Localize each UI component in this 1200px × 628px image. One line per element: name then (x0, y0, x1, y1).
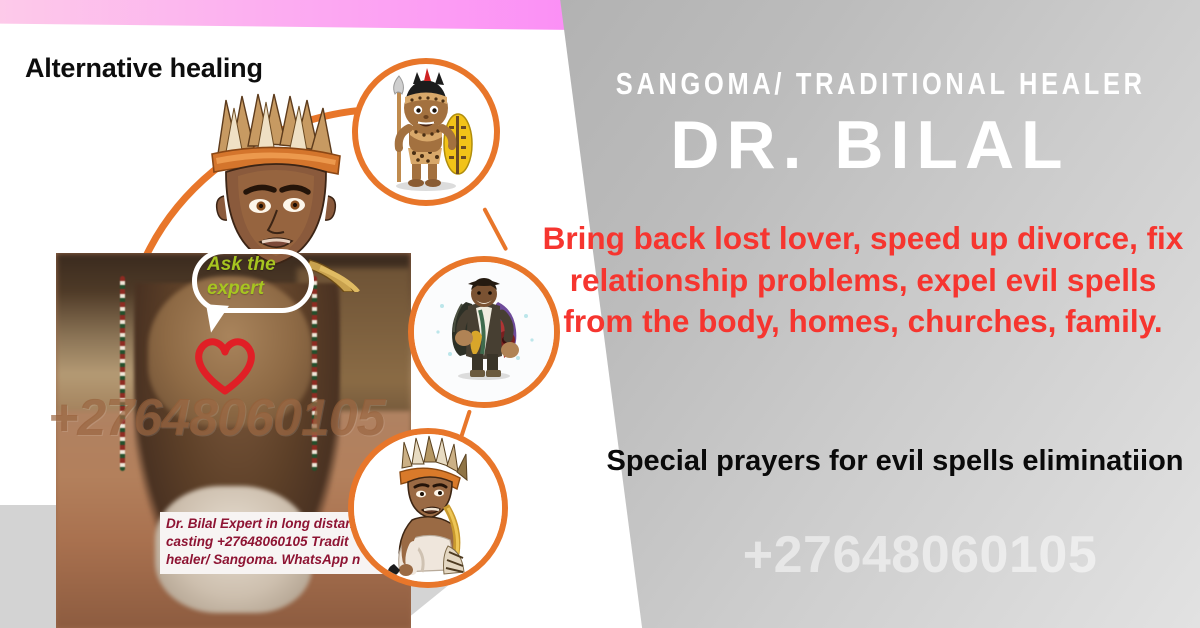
healer-coat-illustration (414, 262, 554, 402)
badge-crouching-warrior (348, 428, 508, 588)
special-prayers-text: Special prayers for evil spells eliminat… (600, 443, 1190, 481)
poster-canvas: Alternative healing (0, 0, 1200, 628)
ask-the-expert-label: Ask the expert (207, 253, 317, 301)
decorative-pink-band (0, 0, 600, 30)
page-title: Alternative healing (25, 53, 263, 84)
badge-connector-line-1 (482, 207, 508, 251)
decorative-bottom-left-block (0, 505, 56, 628)
crouching-warrior-illustration (354, 434, 502, 582)
photo-phone-watermark: +27648060105 (48, 388, 385, 448)
badge-zulu-warrior (352, 58, 500, 206)
kicker-headline: SANGOMA/ TRADITIONAL HEALER (616, 66, 1124, 102)
zulu-warrior-illustration (358, 64, 494, 200)
services-description: Bring back lost lover, speed up divorce,… (538, 218, 1188, 343)
brand-name: DR. BILAL (560, 106, 1180, 184)
panel-phone-watermark: +27648060105 (640, 525, 1200, 585)
heart-icon (190, 334, 260, 396)
